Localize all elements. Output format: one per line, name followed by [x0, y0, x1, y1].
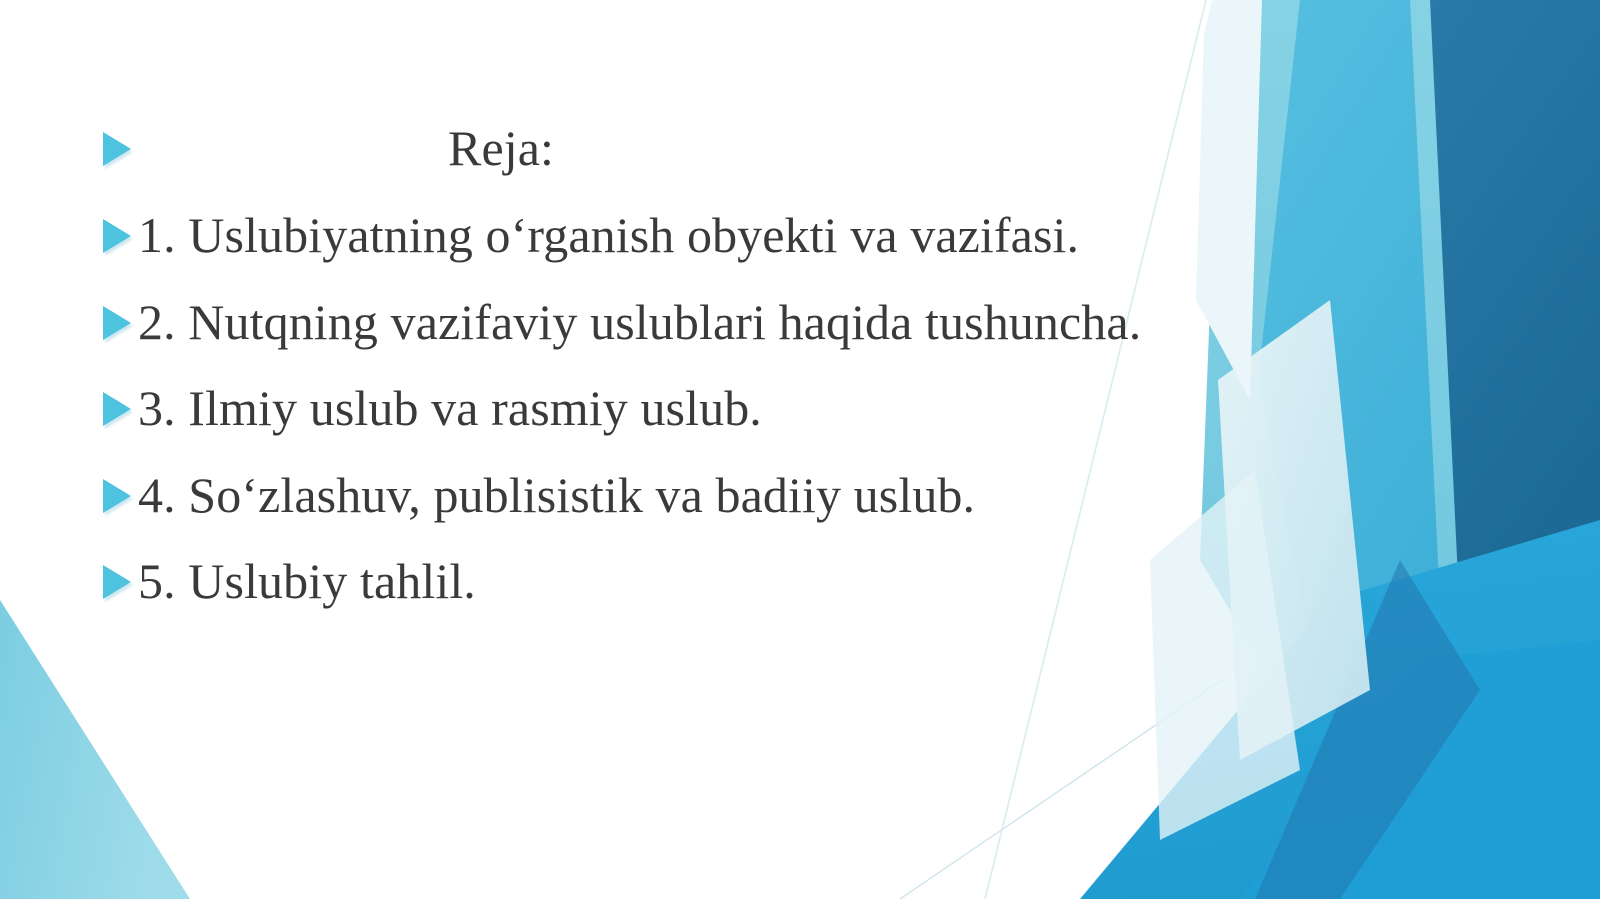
- presentation-slide: Reja: 1. Uslubiyatning o‘rganish obyekti…: [0, 0, 1600, 899]
- list-item-label: 5. Uslubiy tahlil.: [138, 555, 476, 608]
- triangle-bullet-icon: [100, 128, 134, 168]
- triangle-bullet-icon: [100, 561, 134, 601]
- triangle-bullet-icon: [100, 388, 134, 428]
- list-item-label: 3. Ilmiy uslub va rasmiy uslub.: [138, 382, 762, 435]
- slide-title-row: Reja:: [100, 113, 554, 183]
- page-title: Reja:: [138, 122, 554, 175]
- list-item: 5. Uslubiy tahlil.: [100, 546, 476, 616]
- list-item: 1. Uslubiyatning o‘rganish obyekti va va…: [100, 200, 1079, 270]
- list-item: 3. Ilmiy uslub va rasmiy uslub.: [100, 373, 762, 443]
- list-item: 4. So‘zlashuv, publisistik va badiiy usl…: [100, 460, 975, 530]
- triangle-bullet-icon: [100, 475, 134, 515]
- list-item: 2. Nutqning vazifaviy uslublari haqida t…: [100, 287, 1141, 357]
- list-item-label: 1. Uslubiyatning o‘rganish obyekti va va…: [138, 209, 1079, 262]
- triangle-bullet-icon: [100, 302, 134, 342]
- slide-content: Reja: 1. Uslubiyatning o‘rganish obyekti…: [0, 0, 1600, 899]
- list-item-label: 4. So‘zlashuv, publisistik va badiiy usl…: [138, 469, 975, 522]
- list-item-label: 2. Nutqning vazifaviy uslublari haqida t…: [138, 296, 1141, 349]
- triangle-bullet-icon: [100, 215, 134, 255]
